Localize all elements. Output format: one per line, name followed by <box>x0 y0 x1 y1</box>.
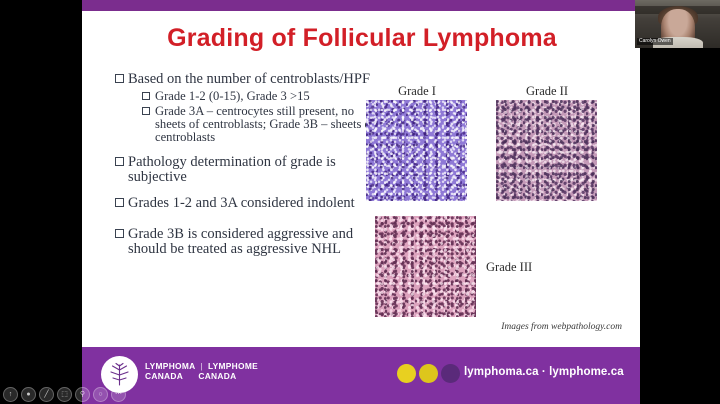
zoom-tool-glyph: ⚲ <box>76 388 89 401</box>
spotlight-tool[interactable]: ● <box>21 387 36 402</box>
footer-dots <box>397 364 463 383</box>
histology-grade-3 <box>375 216 476 317</box>
pen-tool[interactable]: ╱ <box>39 387 54 402</box>
pen-tool-glyph: ╱ <box>40 388 53 401</box>
pointer-tool[interactable]: ↑ <box>3 387 18 402</box>
footer-dot-1 <box>397 364 416 383</box>
bullet-item: Grade 3B is considered aggressive and sh… <box>115 227 377 258</box>
stamp-tool[interactable]: ⬚ <box>57 387 72 402</box>
webcam-thumbnail[interactable]: Carolyn Owen <box>635 0 720 48</box>
more-tool-glyph: ⋯ <box>112 388 125 401</box>
pointer-tool-glyph: ↑ <box>4 388 17 401</box>
lymphoma-canada-wordmark: LYMPHOMA|LYMPHOME CANADA CANADA <box>145 362 258 382</box>
wordmark-en-line2: CANADA <box>145 371 183 381</box>
footer-websites: lymphoma.ca · lymphome.ca <box>464 366 624 378</box>
annotation-toolbar[interactable]: ↑ ● ╱ ⬚ ⚲ ○ ⋯ <box>3 387 126 402</box>
image-credit: Images from webpathology.com <box>402 322 622 332</box>
bullet-square-icon <box>115 229 124 238</box>
bullet-list: Based on the number of centroblasts/HPF … <box>115 72 377 260</box>
bullet-text: Grade 1-2 (0-15), Grade 3 >15 <box>155 89 310 103</box>
bullet-text: Grade 3B is considered aggressive and sh… <box>128 226 353 257</box>
stamp-tool-glyph: ⬚ <box>58 388 71 401</box>
spotlight-tool-glyph: ● <box>22 388 35 401</box>
wordmark-fr-line2: CANADA <box>198 371 236 381</box>
more-tool[interactable]: ⋯ <box>111 387 126 402</box>
webcam-participant-name: Carolyn Owen <box>637 38 673 45</box>
bullet-text: Grades 1-2 and 3A considered indolent <box>128 195 355 211</box>
bullet-item: Grade 1-2 (0-15), Grade 3 >15 <box>142 90 377 103</box>
wordmark-en-line1: LYMPHOMA <box>145 361 195 371</box>
bullet-item: Grades 1-2 and 3A considered indolent <box>115 196 377 211</box>
eraser-tool-glyph: ○ <box>94 388 107 401</box>
histology-grade-2 <box>496 100 597 201</box>
histology-grade-1-label: Grade I <box>352 84 482 99</box>
zoom-tool[interactable]: ⚲ <box>75 387 90 402</box>
bullet-item: Pathology determination of grade is subj… <box>115 155 377 186</box>
histology-grade-2-label: Grade II <box>482 84 612 99</box>
wordmark-divider: | <box>200 362 202 372</box>
wordmark-fr-line1: LYMPHOME <box>208 361 258 371</box>
histology-grade-3-label: Grade III <box>486 260 596 275</box>
footer-dot-3 <box>441 364 460 383</box>
bullet-square-icon <box>142 107 150 115</box>
bullet-item: Grade 3A – centrocytes still present, no… <box>142 105 377 145</box>
slide-footer: LYMPHOMA|LYMPHOME CANADA CANADA lymphoma… <box>82 347 640 404</box>
bullet-square-icon <box>115 198 124 207</box>
slide: Grading of Follicular Lymphoma Based on … <box>82 0 640 404</box>
bullet-square-icon <box>142 92 150 100</box>
bullet-text: Based on the number of centroblasts/HPF <box>128 71 370 87</box>
wordmark-divider-2 <box>188 372 193 382</box>
histology-grade-1 <box>366 100 467 201</box>
bullet-text: Pathology determination of grade is subj… <box>128 154 336 185</box>
bullet-square-icon <box>115 74 124 83</box>
slide-title: Grading of Follicular Lymphoma <box>102 24 622 53</box>
presentation-viewport: Grading of Follicular Lymphoma Based on … <box>0 0 720 404</box>
bullet-text: Grade 3A – centrocytes still present, no… <box>155 104 375 145</box>
eraser-tool[interactable]: ○ <box>93 387 108 402</box>
bullet-square-icon <box>115 157 124 166</box>
bullet-item: Based on the number of centroblasts/HPF <box>115 72 377 87</box>
slide-top-band <box>82 0 640 11</box>
footer-dot-2 <box>419 364 438 383</box>
